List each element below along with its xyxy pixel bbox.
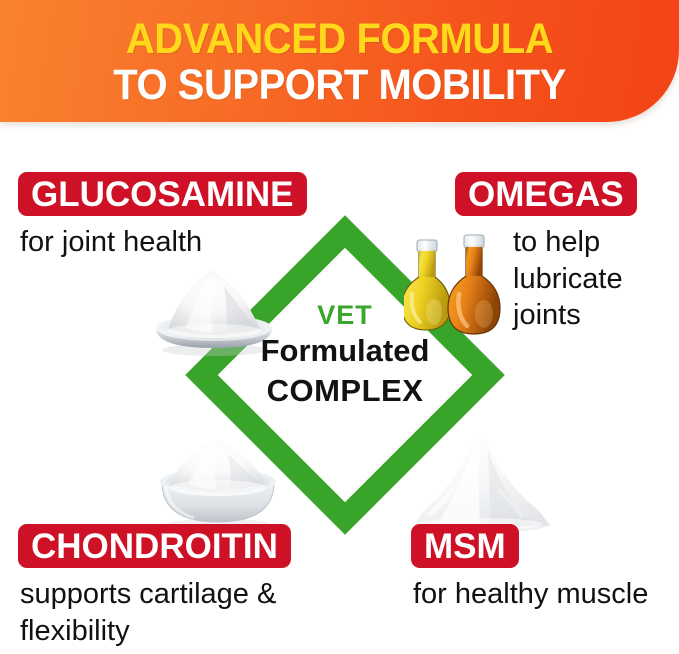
header-banner: ADVANCED FORMULA TO SUPPORT MOBILITY (0, 0, 679, 122)
chondroitin-powder-bowl-image (146, 432, 290, 532)
center-complex-text: COMPLEX (195, 371, 495, 411)
header-headline-secondary: TO SUPPORT MOBILITY (24, 64, 655, 107)
badge-glucosamine: GLUCOSAMINE (18, 172, 307, 216)
description-msm: for healthy muscle (413, 576, 653, 613)
description-chondroitin: supports cartilage & flexibility (20, 576, 360, 649)
description-omegas: to help lubricate joints (513, 224, 679, 334)
badge-msm: MSM (411, 524, 519, 568)
badge-chondroitin: CHONDROITIN (18, 524, 291, 568)
description-glucosamine: for joint health (20, 224, 320, 261)
omega-oil-flasks-image (404, 222, 516, 338)
badge-omegas: OMEGAS (455, 172, 637, 216)
header-headline-primary: ADVANCED FORMULA (24, 18, 655, 61)
product-benefits-infographic: ADVANCED FORMULA TO SUPPORT MOBILITY (0, 0, 679, 654)
msm-powder-pile-image (400, 428, 556, 534)
